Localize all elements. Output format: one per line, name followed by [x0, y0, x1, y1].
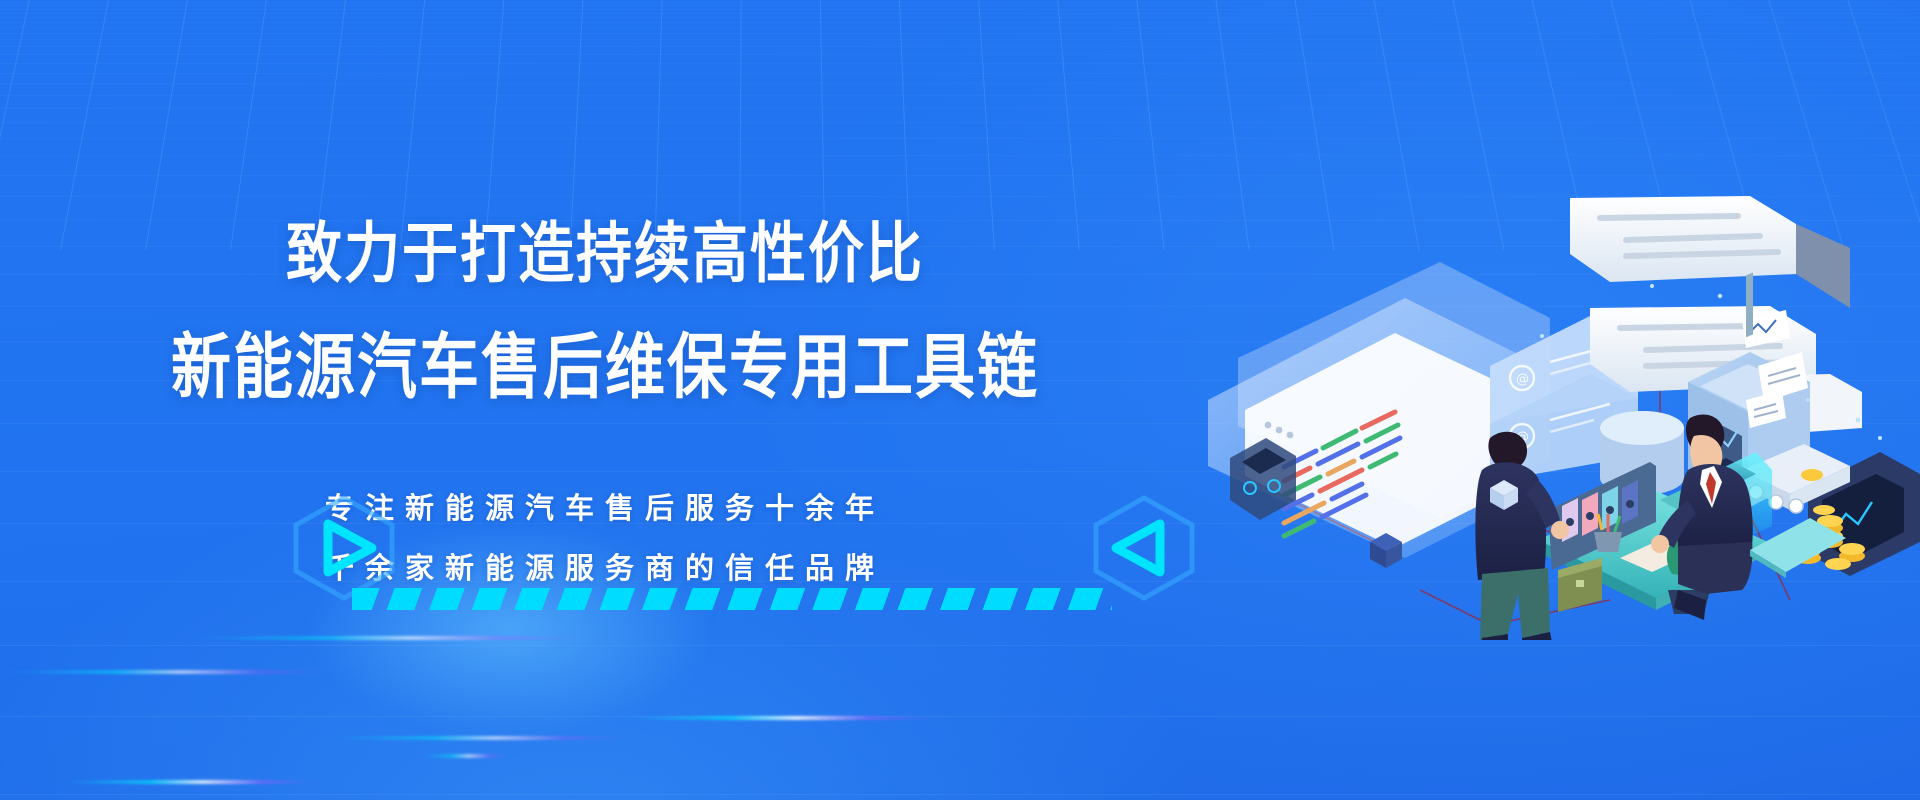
svg-text:@: @	[1516, 372, 1529, 387]
pen-cup	[1594, 514, 1622, 552]
hero-banner: 致力于打造持续高性价比 新能源汽车售后维保专用工具链 专注新能源汽车售后服务十余…	[0, 0, 1920, 800]
document-card-top	[1570, 196, 1850, 308]
isometric-office-teamwork-illustration: @ @	[1190, 170, 1920, 640]
subtitle-line-1: 专注新能源汽车售后服务十余年	[0, 485, 1210, 527]
briefcase	[1558, 558, 1602, 612]
copy-block: 致力于打造持续高性价比 新能源汽车售后维保专用工具链 专注新能源汽车售后服务十余…	[0, 0, 1210, 800]
headline-line-2: 新能源汽车售后维保专用工具链	[0, 310, 1210, 413]
subtitle-line-2: 千余家新能源服务商的信任品牌	[0, 545, 1210, 587]
diagonal-stripe-bar	[352, 588, 1112, 610]
headline-line-1: 致力于打造持续高性价比	[0, 201, 1210, 297]
